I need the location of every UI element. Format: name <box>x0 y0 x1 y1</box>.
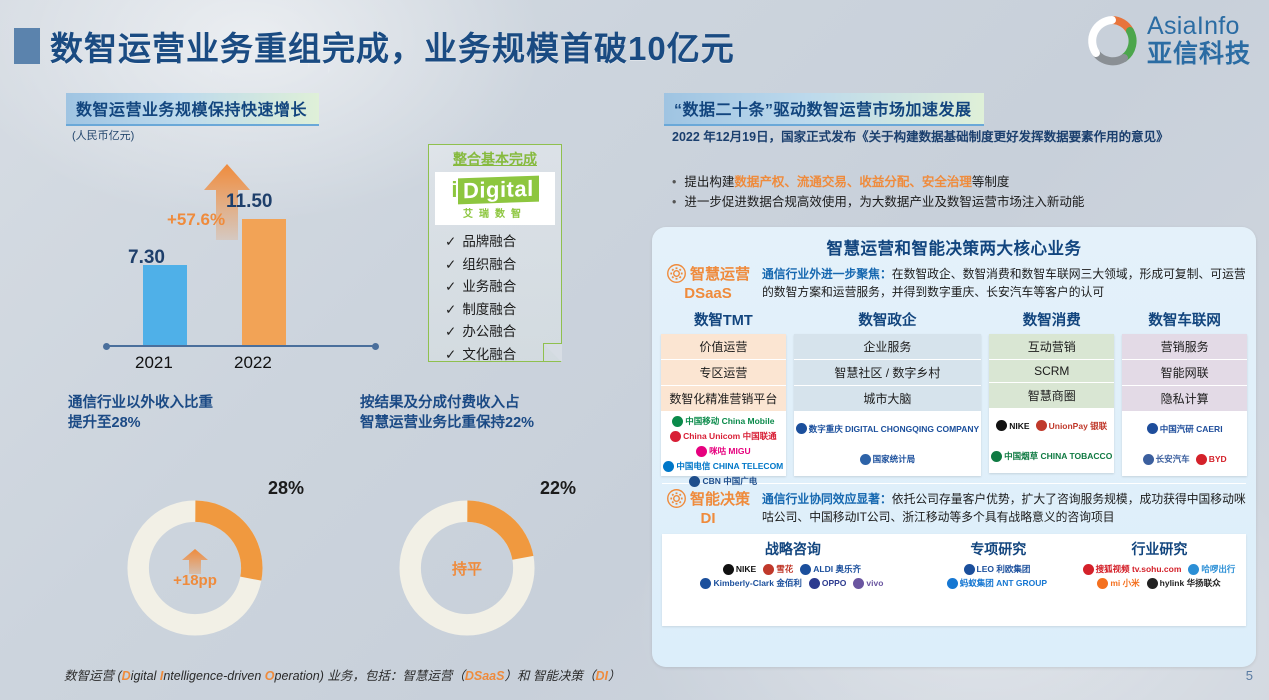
integration-note-card: 整合基本完成 iDigital 艾瑞数智 ✓品牌融合 ✓组织融合 ✓业务融合 ✓… <box>428 144 562 362</box>
bar-value-2022: 11.50 <box>226 191 273 213</box>
logo-nbs: 国家统计局 <box>860 453 916 465</box>
idigital-subtitle: 艾瑞数智 <box>451 205 538 220</box>
category-card: 价值运营 专区运营 数智化精准营销平台 中国移动 China Mobile Ch… <box>661 334 786 476</box>
consulting-card: 战略咨询 专项研究 行业研究 NIKE 雪花 ALDI 奥乐齐 Kimberly… <box>662 534 1246 626</box>
category-item: 智慧商圈 <box>989 383 1114 409</box>
consulting-title: 专项研究 <box>918 539 1079 559</box>
logo-cbn: CBN 中国广电 <box>689 475 757 487</box>
logo-china-telecom: 中国电信 CHINA TELECOM <box>663 460 783 472</box>
left-section-title: 数智运营业务规模保持快速增长 <box>66 93 319 126</box>
list-item: • 提出构建数据产权、流通交易、收益分配、安全治理等制度 <box>672 172 1252 192</box>
page-title: 数智运营业务重组完成，业务规模首破10亿元 <box>50 22 735 70</box>
donut-percentage-1: 28% <box>268 478 304 499</box>
list-item: ✓业务融合 <box>445 275 555 295</box>
category-column-auto: 数智车联网 营销服务 智能网联 隐私计算 中国汽研 CAERI 长安汽车 BYD <box>1122 309 1247 476</box>
logo-group-strategy: NIKE 雪花 ALDI 奥乐齐 Kimberly-Clark 金佰利 OPPO… <box>668 563 916 589</box>
logo-pane-tmt: 中国移动 China Mobile China Unicom 中国联通 咪咕 M… <box>661 412 786 476</box>
logo-pane-gov: 数字重庆 DIGITAL CHONGQING COMPANY 国家统计局 <box>794 412 981 476</box>
list-item: ✓文化融合 <box>445 343 555 363</box>
logo-sohu-video: 搜狐视频 tv.sohu.com <box>1083 563 1182 575</box>
check-icon: ✓ <box>445 324 456 339</box>
donut-center-2: 持平 <box>392 493 542 643</box>
logo-group-industry: 搜狐视频 tv.sohu.com 哈啰出行 mi 小米 hylink 华扬联众 <box>1078 563 1240 589</box>
logo-vivo: vivo <box>853 578 883 589</box>
dsaas-identity: 智慧运营 DSaaS <box>660 263 756 302</box>
dsaas-row: 智慧运营 DSaaS 通信行业外进一步聚焦：在数智政企、数智消费和数智车联网三大… <box>652 259 1256 302</box>
donut-center-label: 持平 <box>452 558 482 579</box>
category-card: 企业服务 智慧社区 / 数字乡村 城市大脑 数字重庆 DIGITAL CHONG… <box>794 334 981 476</box>
bar-label-2021: 2021 <box>135 353 173 373</box>
category-title: 数智消费 <box>989 309 1114 330</box>
category-item: 智慧社区 / 数字乡村 <box>794 360 981 386</box>
category-column-consumer: 数智消费 互动营销 SCRM 智慧商圈 NIKE UnionPay 银联 中国烟… <box>989 309 1114 476</box>
asiainfo-ring-icon <box>1086 15 1138 67</box>
di-name: 智能决策 <box>690 491 750 508</box>
logo-kimberly-clark: Kimberly-Clark 金佰利 <box>700 577 801 589</box>
category-item: 智能网联 <box>1122 360 1247 386</box>
category-title: 数智车联网 <box>1122 309 1247 330</box>
logo-changan: 长安汽车 <box>1143 453 1190 465</box>
category-grid: 数智TMT 价值运营 专区运营 数智化精准营销平台 中国移动 China Mob… <box>652 302 1256 476</box>
integration-note-title: 整合基本完成 <box>435 149 555 169</box>
up-arrow-icon <box>182 548 208 574</box>
donut-center-label: +18pp <box>173 572 217 589</box>
donut-chart-2: 持平 <box>392 493 542 643</box>
consulting-title: 战略咨询 <box>668 539 918 559</box>
donut-caption-1: 通信行业以外收入比重 提升至28% <box>68 394 213 433</box>
logo-pane-auto: 中国汽研 CAERI 长安汽车 BYD <box>1122 412 1247 476</box>
bullet-dot-icon: • <box>672 192 676 212</box>
donut-caption-line: 提升至28% <box>68 414 213 434</box>
idigital-wordmark: Digital <box>458 176 539 205</box>
logo-digital-chongqing: 数字重庆 DIGITAL CHONGQING COMPANY <box>796 423 979 435</box>
dsaas-description: 通信行业外进一步聚焦：在数智政企、数智消费和数智车联网三大领域，形成可复制、可运… <box>762 263 1246 302</box>
category-item: 数智化精准营销平台 <box>661 386 786 412</box>
chart-axis-unit: (人民币亿元) <box>72 127 134 143</box>
gear-icon <box>666 488 687 509</box>
logo-aldi: ALDI 奥乐齐 <box>800 563 861 575</box>
idigital-letter-i: i <box>451 177 458 202</box>
list-item: ✓办公融合 <box>445 320 555 340</box>
panel-title: 智慧运营和智能决策两大核心业务 <box>652 227 1256 259</box>
category-title: 数智政企 <box>794 309 981 330</box>
integration-checklist: ✓品牌融合 ✓组织融合 ✓业务融合 ✓制度融合 ✓办公融合 ✓文化融合 <box>435 230 555 363</box>
logo-unionpay: UnionPay 银联 <box>1036 420 1108 432</box>
bullet-dot-icon: • <box>672 172 676 192</box>
di-row: 智能决策 DI 通信行业协同效应显著：依托公司存量客户优势，扩大了咨询服务规模，… <box>652 484 1256 527</box>
logo-migu: 咪咕 MIGU <box>696 445 751 457</box>
logo-byd: BYD <box>1196 454 1227 465</box>
logo-nike: NIKE <box>996 420 1029 431</box>
category-item: SCRM <box>989 360 1114 383</box>
consulting-logos: NIKE 雪花 ALDI 奥乐齐 Kimberly-Clark 金佰利 OPPO… <box>668 563 1240 589</box>
category-item: 隐私计算 <box>1122 386 1247 412</box>
list-item: ✓品牌融合 <box>445 230 555 250</box>
donut-caption-line: 智慧运营业务比重保持22% <box>360 414 534 434</box>
logo-xiaomi: mi 小米 <box>1097 577 1139 589</box>
right-section-heading: “数据二十条”驱动数智运营市场加速发展 <box>664 93 984 126</box>
category-card: 互动营销 SCRM 智慧商圈 NIKE UnionPay 银联 中国烟草 CHI… <box>989 334 1114 473</box>
category-item: 城市大脑 <box>794 386 981 412</box>
title-accent-block <box>14 28 40 64</box>
dsaas-abbr: DSaaS <box>660 285 756 302</box>
category-column-tmt: 数智TMT 价值运营 专区运营 数智化精准营销平台 中国移动 China Mob… <box>661 309 786 476</box>
consulting-title: 行业研究 <box>1079 539 1240 559</box>
category-item: 营销服务 <box>1122 334 1247 360</box>
list-item: ✓组织融合 <box>445 253 555 273</box>
slide-title-bar: 数智运营业务重组完成，业务规模首破10亿元 <box>14 22 735 70</box>
logo-hellobike: 哈啰出行 <box>1188 563 1235 575</box>
logo-china-tobacco: 中国烟草 CHINA TOBACCO <box>991 450 1112 462</box>
donut-caption-line: 按结果及分成付费收入占 <box>360 394 534 414</box>
logo-snowbeer: 雪花 <box>763 563 793 575</box>
growth-percentage-label: +57.6% <box>167 210 225 230</box>
footnote: 数智运营 (Digital Intelligence-driven Operat… <box>64 665 620 684</box>
logo-pane-consumer: NIKE UnionPay 银联 中国烟草 CHINA TOBACCO <box>989 409 1114 473</box>
logo-leo-group: LEO 利欧集团 <box>964 563 1031 575</box>
logo-ant-group: 蚂蚁集团 ANT GROUP <box>947 577 1047 589</box>
logo-caeri: 中国汽研 CAERI <box>1147 423 1223 435</box>
idigital-logo: iDigital 艾瑞数智 <box>435 172 555 225</box>
donut-center-1: +18pp <box>120 493 270 643</box>
policy-paragraph: 2022 年12月19日，国家正式发布《关于构建数据基础制度更好发挥数据要素作用… <box>672 128 1242 147</box>
logo-nike: NIKE <box>723 564 756 575</box>
donut-caption-line: 通信行业以外收入比重 <box>68 394 213 414</box>
gear-icon <box>666 263 687 284</box>
list-item: • 进一步促进数据合规高效使用，为大数据产业及数智运营市场注入新动能 <box>672 192 1252 212</box>
brand-name-cn: 亚信科技 <box>1147 42 1251 67</box>
bar-2021 <box>143 265 187 345</box>
bar-label-2022: 2022 <box>234 353 272 373</box>
check-icon: ✓ <box>445 257 456 272</box>
donut-percentage-2: 22% <box>540 478 576 499</box>
chart-baseline <box>106 345 376 347</box>
logo-china-mobile: 中国移动 China Mobile <box>672 415 774 427</box>
category-item: 企业服务 <box>794 334 981 360</box>
consulting-titles: 战略咨询 专项研究 行业研究 <box>668 539 1240 559</box>
core-business-panel: 智慧运营和智能决策两大核心业务 智慧运营 DSaaS 通信行业外进一步聚焦：在数… <box>652 227 1256 667</box>
donut-caption-2: 按结果及分成付费收入占 智慧运营业务比重保持22% <box>360 394 534 433</box>
left-section-heading: 数智运营业务规模保持快速增长 <box>66 93 319 126</box>
category-column-gov: 数智政企 企业服务 智慧社区 / 数字乡村 城市大脑 数字重庆 DIGITAL … <box>794 309 981 476</box>
dsaas-name: 智慧运营 <box>690 266 750 283</box>
check-icon: ✓ <box>445 279 456 294</box>
logo-oppo: OPPO <box>809 578 847 589</box>
category-title: 数智TMT <box>661 309 786 330</box>
right-section-title: “数据二十条”驱动数智运营市场加速发展 <box>664 93 984 126</box>
logo-hylink: hylink 华扬联众 <box>1147 577 1221 589</box>
di-identity: 智能决策 DI <box>660 488 756 527</box>
di-description: 通信行业协同效应显著：依托公司存量客户优势，扩大了咨询服务规模，成功获得中国移动… <box>762 488 1246 527</box>
brand-name-en: AsiaInfo <box>1147 14 1251 39</box>
policy-bullet-list: • 提出构建数据产权、流通交易、收益分配、安全治理等制度 • 进一步促进数据合规… <box>672 172 1252 212</box>
bar-2022 <box>242 219 286 345</box>
di-abbr: DI <box>660 510 756 527</box>
category-item: 互动营销 <box>989 334 1114 360</box>
donut-chart-1: +18pp <box>120 493 270 643</box>
page-number: 5 <box>1246 668 1253 683</box>
list-item: ✓制度融合 <box>445 298 555 318</box>
bar-chart: +57.6% 7.30 11.50 2021 2022 <box>100 150 390 375</box>
check-icon: ✓ <box>445 302 456 317</box>
brand-logo: AsiaInfo 亚信科技 <box>1086 14 1251 67</box>
logo-china-unicom: China Unicom 中国联通 <box>670 430 777 442</box>
check-icon: ✓ <box>445 347 456 362</box>
check-icon: ✓ <box>445 234 456 249</box>
logo-group-special: LEO 利欧集团 蚂蚁集团 ANT GROUP <box>916 563 1078 589</box>
category-card: 营销服务 智能网联 隐私计算 中国汽研 CAERI 长安汽车 BYD <box>1122 334 1247 476</box>
category-item: 专区运营 <box>661 360 786 386</box>
category-item: 价值运营 <box>661 334 786 360</box>
